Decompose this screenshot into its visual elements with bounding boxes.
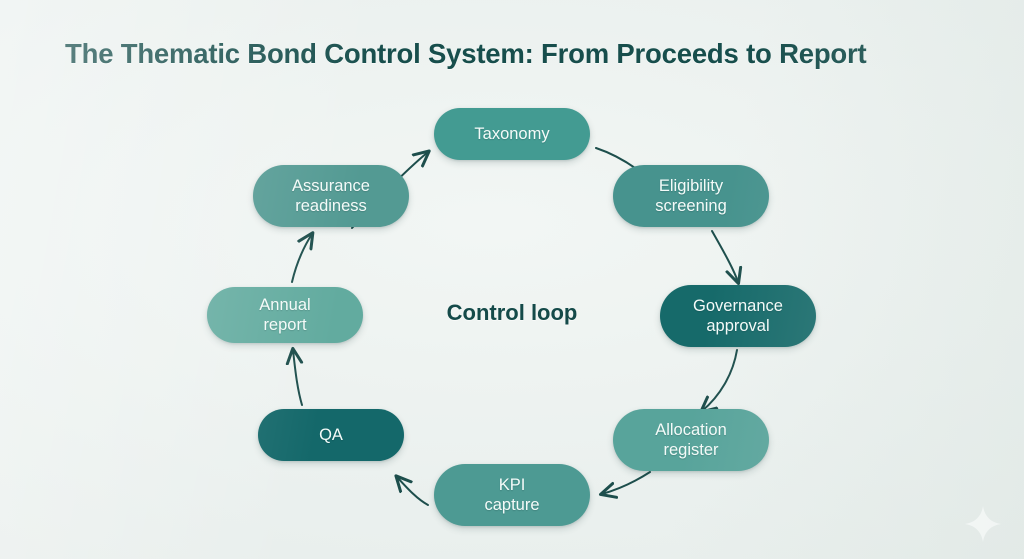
node-qa[interactable]: QA	[258, 409, 404, 461]
node-allocation-register-label: Allocation register	[655, 420, 727, 460]
edge-kpi-capture-to-qa	[397, 477, 428, 505]
diagram-canvas: The Thematic Bond Control System: From P…	[0, 0, 1024, 559]
node-kpi-capture[interactable]: KPI capture	[434, 464, 590, 526]
edge-qa-to-annual-report	[293, 350, 302, 405]
node-taxonomy[interactable]: Taxonomy	[434, 108, 590, 160]
node-allocation-register[interactable]: Allocation register	[613, 409, 769, 471]
edge-eligibility-screening-to-governance-approval	[712, 231, 738, 282]
node-governance-approval-label: Governance approval	[693, 296, 783, 336]
edge-allocation-register-to-kpi-capture	[602, 472, 650, 494]
edge-governance-approval-to-allocation-register	[702, 350, 737, 411]
node-assurance-readiness-label: Assurance readiness	[292, 176, 370, 216]
node-assurance-readiness[interactable]: Assurance readiness	[253, 165, 409, 227]
edge-annual-report-to-assurance-readiness	[292, 234, 312, 282]
node-taxonomy-label: Taxonomy	[474, 124, 549, 144]
node-governance-approval[interactable]: Governance approval	[660, 285, 816, 347]
node-qa-label: QA	[319, 425, 343, 445]
node-eligibility-screening[interactable]: Eligibility screening	[613, 165, 769, 227]
sparkle-icon	[964, 505, 1002, 543]
node-kpi-capture-label: KPI capture	[484, 475, 539, 515]
node-eligibility-screening-label: Eligibility screening	[655, 176, 727, 216]
node-annual-report-label: Annual report	[259, 295, 310, 335]
center-label: Control loop	[447, 300, 578, 326]
node-annual-report[interactable]: Annual report	[207, 287, 363, 343]
